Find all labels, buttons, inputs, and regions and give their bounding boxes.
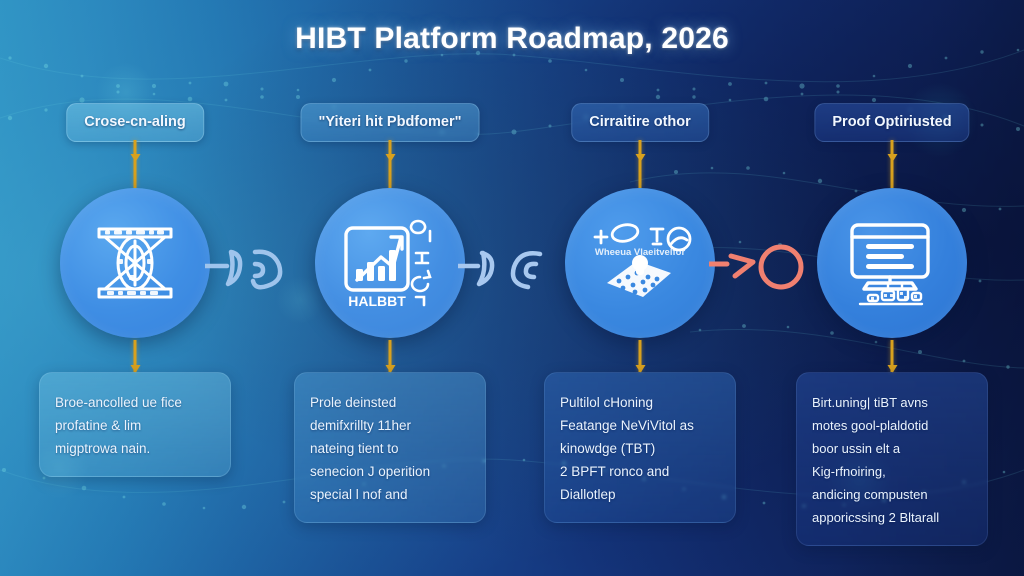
step-2-line-2: demifxrillty 11her: [310, 414, 470, 437]
connector-arrow-3: [709, 236, 819, 298]
step-2-line-4: senecion J operition: [310, 460, 470, 483]
step-3-icon-circle[interactable]: Wheeua Vlaeitvelfor: [565, 188, 715, 338]
step-4-icon-circle[interactable]: [817, 188, 967, 338]
step-1-connector-bottom: [134, 340, 137, 372]
step-4-line-6: apporicssing 2 Bltarall: [812, 506, 972, 529]
step-2-line-3: nateing tient to: [310, 437, 470, 460]
step-3-line-4: 2 BPFT ronco and: [560, 460, 720, 483]
step-1-line-2: profatine & lim: [55, 414, 215, 437]
monitor-screen-icon: [838, 211, 946, 315]
step-4-pill-label[interactable]: Proof Optiriusted: [814, 103, 969, 142]
step-2-icon-caption: HALBBT: [348, 293, 406, 309]
bridge-hourglass-icon: [83, 211, 187, 315]
step-4-line-5: andicing compusten: [812, 483, 972, 506]
connector-arrow-1: [205, 236, 315, 298]
step-1-line-3: migptrowa nain.: [55, 437, 215, 460]
step-3-connector-top: [639, 140, 642, 188]
step-3-line-2: Featange NeViVitol as: [560, 414, 720, 437]
step-2-description-card: Prole deinsted demifxrillty 11her natein…: [294, 372, 486, 523]
step-2-pill-label[interactable]: "Yiteri hit Pbdfomer": [301, 103, 480, 142]
step-1-pill-label[interactable]: Crose-cn-aling: [66, 103, 204, 142]
step-4-line-2: motes gool-plaldotid: [812, 414, 972, 437]
step-2-line-5: special l nof and: [310, 483, 470, 506]
infographic-canvas: HIBT Platform Roadmap, 2026 Crose-cn-ali…: [0, 0, 1024, 576]
step-3-pill-label[interactable]: Cirraitire othor: [571, 103, 709, 142]
step-2-connector-top: [389, 140, 392, 188]
step-4-line-3: boor ussin elt a: [812, 437, 972, 460]
step-1-description-card: Broe-ancolled ue fice profatine & lim mi…: [39, 372, 231, 477]
connector-arrow-2: [458, 236, 568, 298]
step-2-connector-bottom: [389, 340, 392, 372]
step-4-description-card: Birt.uning| tiBT avns motes gool-plaldot…: [796, 372, 988, 546]
step-1-connector-top: [134, 140, 137, 188]
step-3-description-card: Pultilol cHoning Featange NeViVitol as k…: [544, 372, 736, 523]
step-3-line-3: kinowdge (TBT): [560, 437, 720, 460]
step-3-line-5: Diallotlep: [560, 483, 720, 506]
step-4-line-1: Birt.uning| tiBT avns: [812, 391, 972, 414]
step-3-connector-bottom: [639, 340, 642, 372]
step-4-connector-bottom: [891, 340, 894, 372]
step-1-line-1: Broe-ancolled ue fice: [55, 391, 215, 414]
step-4-line-4: Kig-rfnoiring,: [812, 460, 972, 483]
network-platform-icon: Wheeua Vlaeitvelfor: [585, 211, 695, 315]
step-3-line-1: Pultilol cHoning: [560, 391, 720, 414]
step-2-icon-circle[interactable]: HALBBT: [315, 188, 465, 338]
step-1-icon-circle[interactable]: [60, 188, 210, 338]
step-3-icon-caption: Wheeua Vlaeitvelfor: [595, 247, 686, 258]
step-4-connector-top: [891, 140, 894, 188]
step-2-line-1: Prole deinsted: [310, 391, 470, 414]
growth-bar-chart-icon: HALBBT: [336, 211, 444, 315]
